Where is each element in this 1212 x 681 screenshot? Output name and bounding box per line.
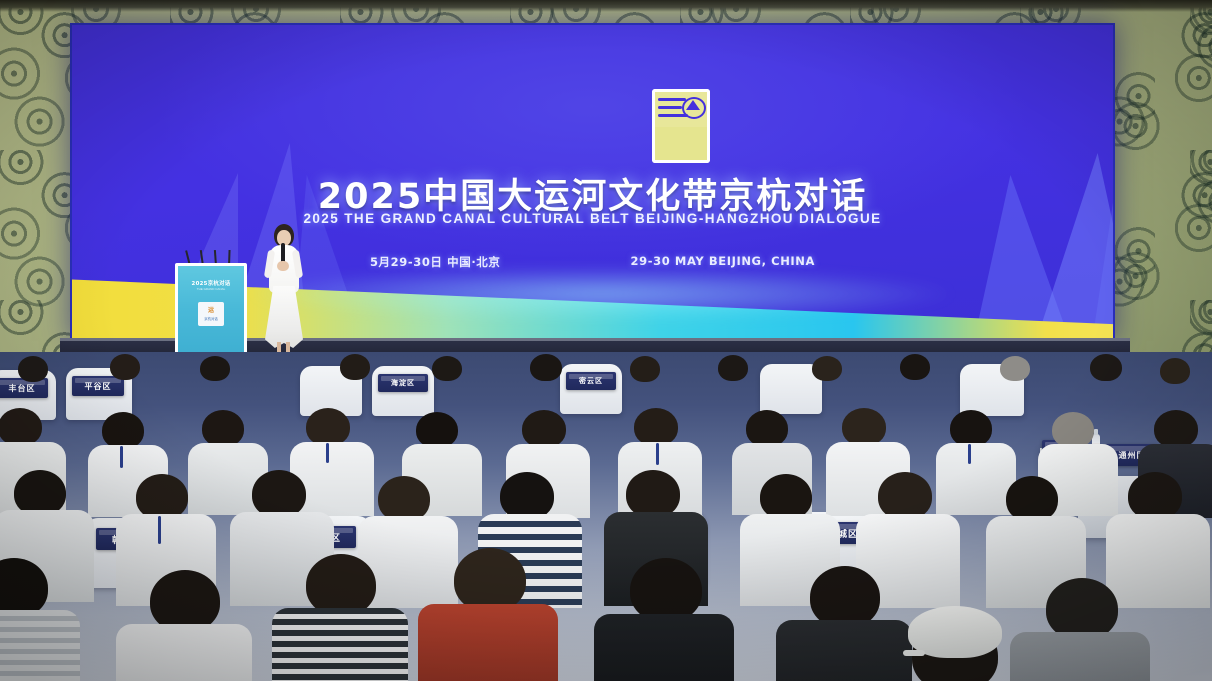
- audience-seating-area: 丰台区 平谷区 海淀区 密云区: [0, 352, 1212, 681]
- white-cap-icon: [908, 606, 1002, 658]
- podium-emblem-main: 运: [208, 308, 214, 314]
- host-speaker-figure: [258, 224, 310, 358]
- conference-hall-photo: 2025中国大运河文化带京杭对话 2025 THE GRAND CANAL CU…: [0, 0, 1212, 681]
- seat-placard: 密云区: [566, 372, 616, 390]
- date-english: 29-30 MAY BEIJING, CHINA: [631, 254, 816, 270]
- grand-canal-seal-logo-icon: [646, 89, 716, 163]
- seat-placard: 平谷区: [72, 376, 124, 396]
- wave-glow: [252, 267, 952, 321]
- date-chinese: 5月29-30日 中国·北京: [370, 254, 501, 270]
- podium-emblem-sub: 京杭对话: [204, 316, 218, 321]
- seat-placard: 丰台区: [0, 378, 48, 398]
- ceiling-shadow: [0, 0, 1212, 12]
- podium-emblem: 运 京杭对话: [198, 302, 224, 326]
- podium-title-text: 2025京杭对话: [178, 279, 244, 287]
- speaker-podium: 2025京杭对话 THE GRAND CANAL 运 京杭对话: [175, 263, 247, 355]
- seat-placard: 海淀区: [378, 374, 428, 392]
- screen-title-english: 2025 THE GRAND CANAL CULTURAL BELT BEIJI…: [72, 211, 1113, 226]
- podium-subtitle-text: THE GRAND CANAL: [178, 287, 244, 291]
